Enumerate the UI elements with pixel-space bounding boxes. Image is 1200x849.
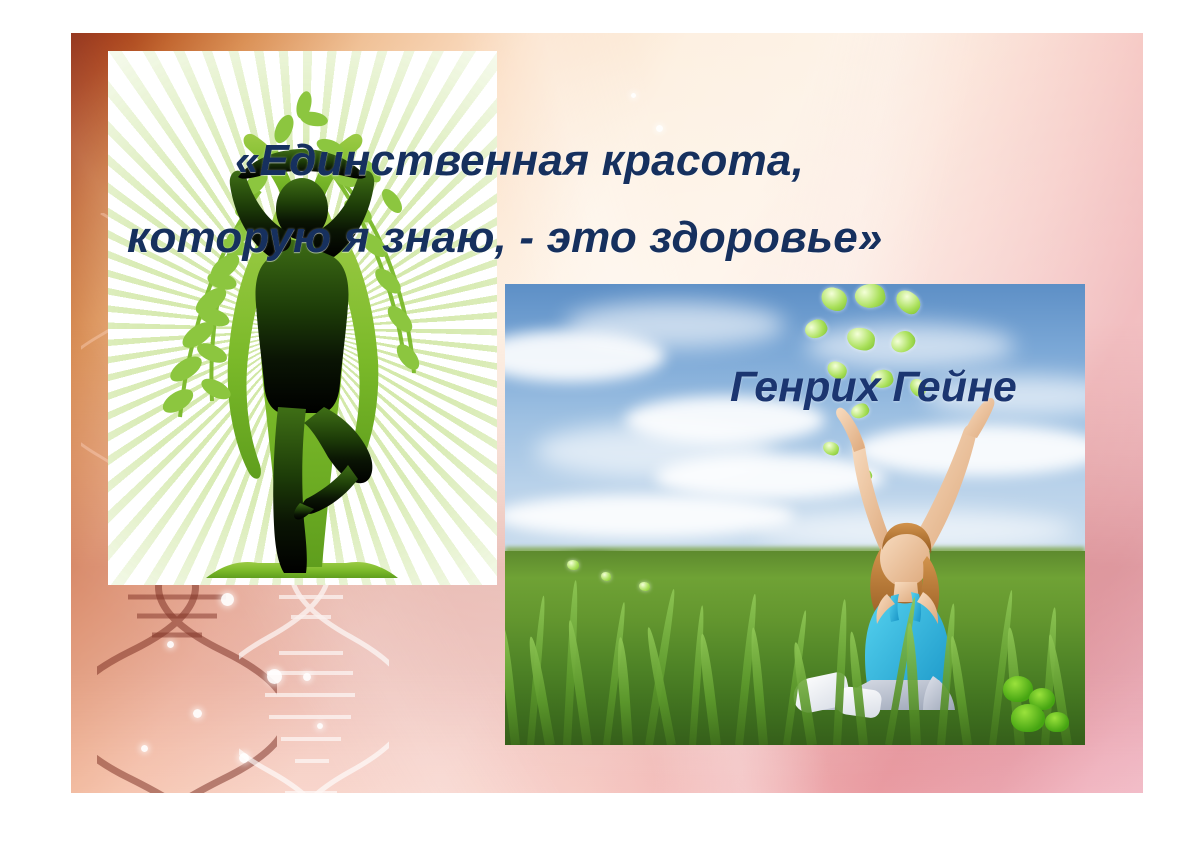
cloud — [505, 494, 795, 538]
sparkle-dot-icon — [656, 125, 663, 132]
cloud — [565, 302, 785, 348]
health-tree-card — [108, 51, 497, 585]
wildflower — [567, 560, 579, 570]
sparkle-dot-icon — [239, 753, 249, 763]
sparkle-dot-icon — [221, 593, 234, 606]
sparkle-dot-icon — [167, 641, 174, 648]
wildflower — [639, 582, 650, 591]
sparkle-dot-icon — [317, 723, 323, 729]
sparkle-dot-icon — [631, 93, 636, 98]
clover-leaf — [1011, 704, 1045, 732]
sparkle-dot-icon — [303, 673, 311, 681]
quote-attribution: Генрих Гейне — [730, 363, 1017, 412]
clover-leaf — [1045, 712, 1069, 732]
wildflower — [601, 572, 611, 581]
sparkle-dot-icon — [141, 745, 148, 752]
woman-in-meadow-photo — [505, 284, 1085, 745]
presentation-slide: «Единственная красота, которую я знаю, -… — [71, 33, 1143, 793]
sparkle-dot-icon — [193, 709, 202, 718]
tree-and-figure-artwork — [108, 51, 497, 585]
quote-line-2: которую я знаю, - это здоровье» — [127, 213, 883, 263]
sparkle-dot-icon — [267, 669, 282, 684]
quote-line-1: «Единственная красота, — [235, 136, 804, 186]
screenshot-root: «Единственная красота, которую я знаю, -… — [0, 0, 1200, 849]
